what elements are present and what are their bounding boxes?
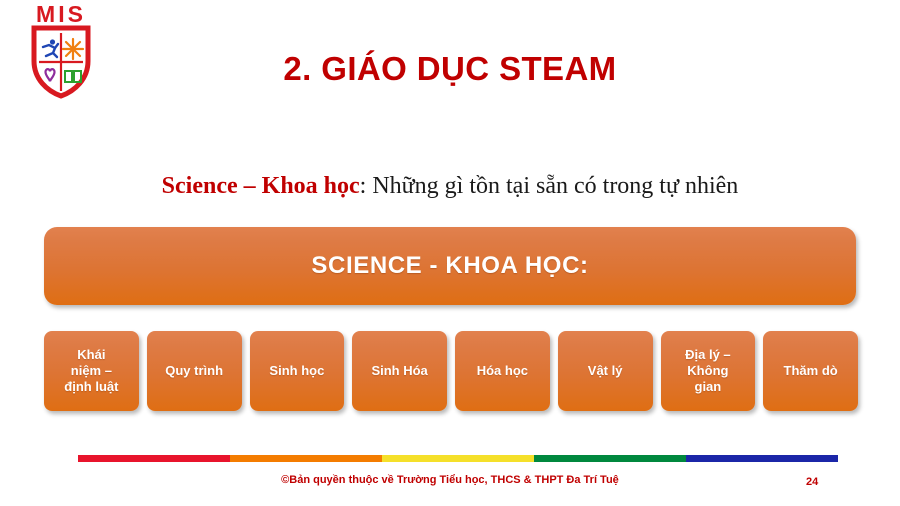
science-topic-row: Khái niệm – định luật Quy trình Sinh học…	[44, 331, 858, 411]
science-banner: SCIENCE - KHOA HỌC:	[44, 227, 856, 305]
topic-box-label: Vật lý	[588, 363, 623, 379]
topic-box[interactable]: Quy trình	[147, 331, 242, 411]
page-number: 24	[806, 476, 846, 488]
topic-box-label: Quy trình	[165, 363, 223, 379]
topic-box[interactable]: Hóa học	[455, 331, 550, 411]
topic-box[interactable]: Sinh Hóa	[352, 331, 447, 411]
slide-canvas: MIS	[0, 0, 900, 506]
footer-bar-segment-orange	[230, 455, 382, 462]
topic-box[interactable]: Sinh học	[250, 331, 345, 411]
footer-bar-segment-green	[534, 455, 686, 462]
footer-color-bar	[78, 455, 838, 462]
subtitle-line: Science – Khoa học: Những gì tồn tại sẵn…	[0, 173, 900, 200]
logo-wordmark: MIS	[22, 2, 100, 26]
copyright-text: ©Bản quyền thuộc về Trường Tiểu học, THC…	[0, 474, 900, 486]
subtitle-highlight: Science – Khoa học	[162, 173, 360, 199]
footer-bar-segment-red	[78, 455, 230, 462]
page-title: 2. GIÁO DỤC STEAM	[0, 50, 900, 88]
topic-box[interactable]: Vật lý	[558, 331, 653, 411]
topic-box-label: Thăm dò	[784, 363, 838, 379]
topic-box-label: Địa lý – Không gian	[685, 347, 731, 395]
footer-bar-segment-yellow	[382, 455, 534, 462]
topic-box[interactable]: Địa lý – Không gian	[661, 331, 756, 411]
topic-box-label: Khái niệm – định luật	[64, 347, 118, 395]
topic-box-label: Hóa học	[477, 363, 528, 379]
footer-bar-segment-blue	[686, 455, 838, 462]
topic-box[interactable]: Thăm dò	[763, 331, 858, 411]
topic-box[interactable]: Khái niệm – định luật	[44, 331, 139, 411]
science-banner-label: SCIENCE - KHOA HỌC:	[311, 252, 588, 280]
topic-box-label: Sinh Hóa	[371, 363, 427, 379]
subtitle-rest: : Những gì tồn tại sẵn có trong tự nhiên	[360, 173, 739, 199]
topic-box-label: Sinh học	[269, 363, 324, 379]
